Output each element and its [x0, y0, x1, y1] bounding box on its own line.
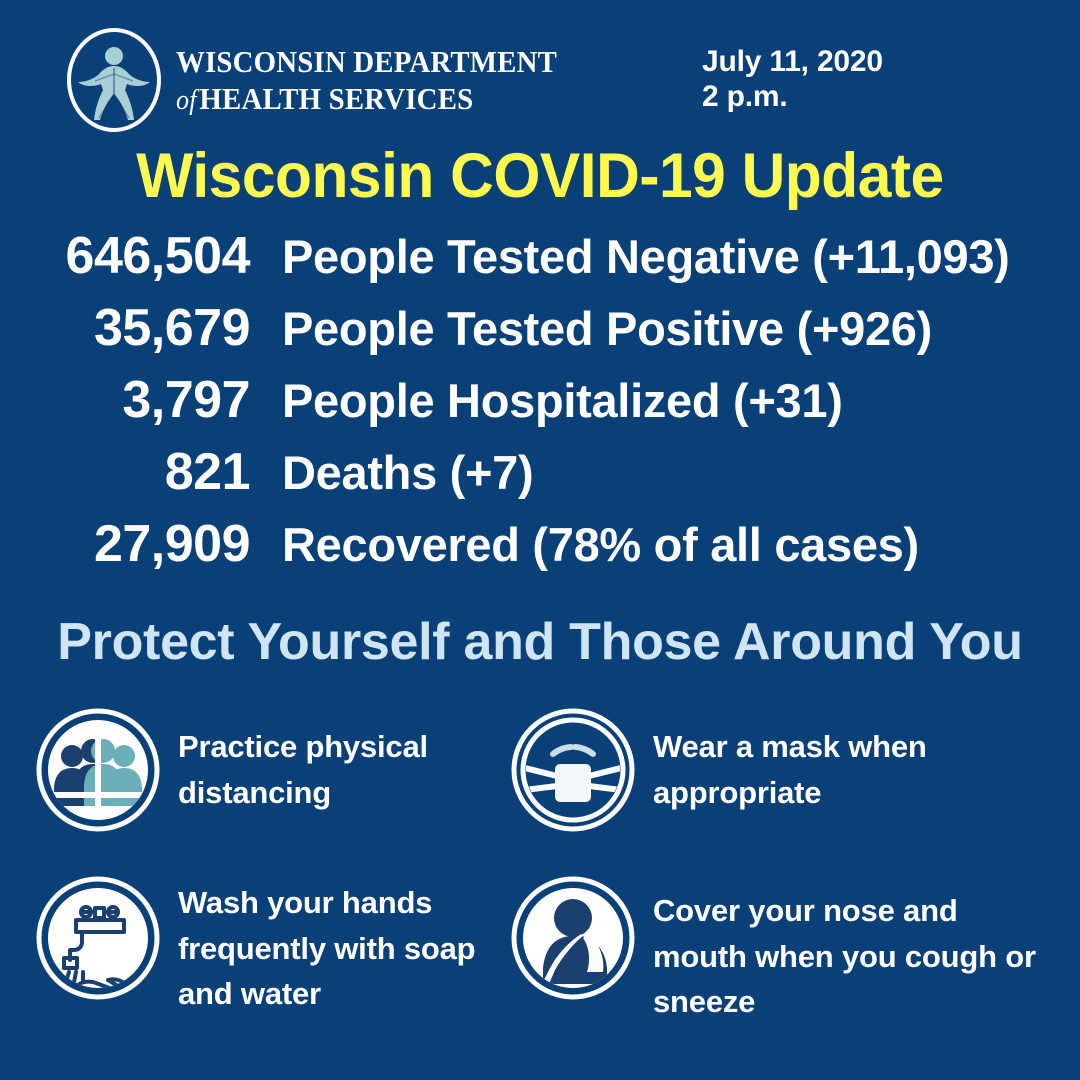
stat-number: 3,797 [0, 370, 250, 430]
table-row: 821 Deaths (+7) [0, 442, 1080, 514]
stat-label: Recovered (78% of all cases) [250, 517, 919, 572]
dhs-wordmark: WISCONSIN DEPARTMENT ofHEALTH SERVICES [176, 46, 586, 115]
table-row: 646,504 People Tested Negative (+11,093) [0, 226, 1080, 298]
tip-wear-mask: Wear a mask when appropriate [511, 708, 1051, 832]
wisconsin-dhs-figure-icon [62, 28, 166, 132]
stat-label: People Hospitalized (+31) [250, 373, 843, 428]
statistics-list: 646,504 People Tested Negative (+11,093)… [0, 226, 1080, 586]
date-block: July 11, 2020 2 p.m. [702, 44, 883, 115]
tip-label: Wash your hands frequently with soap and… [160, 876, 506, 1017]
page-title: Wisconsin COVID-19 Update [22, 140, 1059, 212]
tip-label: Cover your nose and mouth when you cough… [635, 876, 1056, 1025]
wordmark-line-2: ofHEALTH SERVICES [176, 83, 557, 115]
stat-number: 27,909 [0, 514, 250, 574]
face-mask-icon [511, 708, 635, 832]
report-time: 2 p.m. [702, 79, 883, 114]
physical-distancing-icon [36, 708, 160, 832]
prevention-tips: Practice physical distancing We [0, 708, 1080, 1048]
dhs-logo-block: WISCONSIN DEPARTMENT ofHEALTH SERVICES [62, 28, 586, 132]
wordmark-line-1: WISCONSIN DEPARTMENT [176, 46, 557, 77]
covid-update-poster: WISCONSIN DEPARTMENT ofHEALTH SERVICES J… [0, 0, 1080, 1080]
stat-label: People Tested Positive (+926) [250, 301, 932, 356]
table-row: 3,797 People Hospitalized (+31) [0, 370, 1080, 442]
stat-number: 821 [0, 442, 250, 502]
section-heading-protect: Protect Yourself and Those Around You [0, 612, 1080, 672]
tip-physical-distancing: Practice physical distancing [36, 708, 506, 832]
stat-label: People Tested Negative (+11,093) [250, 229, 1010, 284]
wordmark-of: of [176, 85, 199, 116]
handwashing-icon [36, 876, 160, 1000]
stat-number: 646,504 [0, 226, 250, 286]
stat-number: 35,679 [0, 298, 250, 358]
table-row: 35,679 People Tested Positive (+926) [0, 298, 1080, 370]
cough-into-elbow-icon [511, 876, 635, 1000]
report-date: July 11, 2020 [702, 44, 883, 79]
stat-label: Deaths (+7) [250, 445, 533, 500]
tip-cover-cough: Cover your nose and mouth when you cough… [511, 876, 1056, 1025]
table-row: 27,909 Recovered (78% of all cases) [0, 514, 1080, 586]
tip-label: Practice physical distancing [160, 708, 506, 815]
tip-wash-hands: Wash your hands frequently with soap and… [36, 876, 506, 1017]
poster-header: WISCONSIN DEPARTMENT ofHEALTH SERVICES J… [0, 22, 1080, 142]
wordmark-health-services: HEALTH SERVICES [199, 81, 473, 116]
tip-label: Wear a mask when appropriate [635, 708, 1051, 815]
